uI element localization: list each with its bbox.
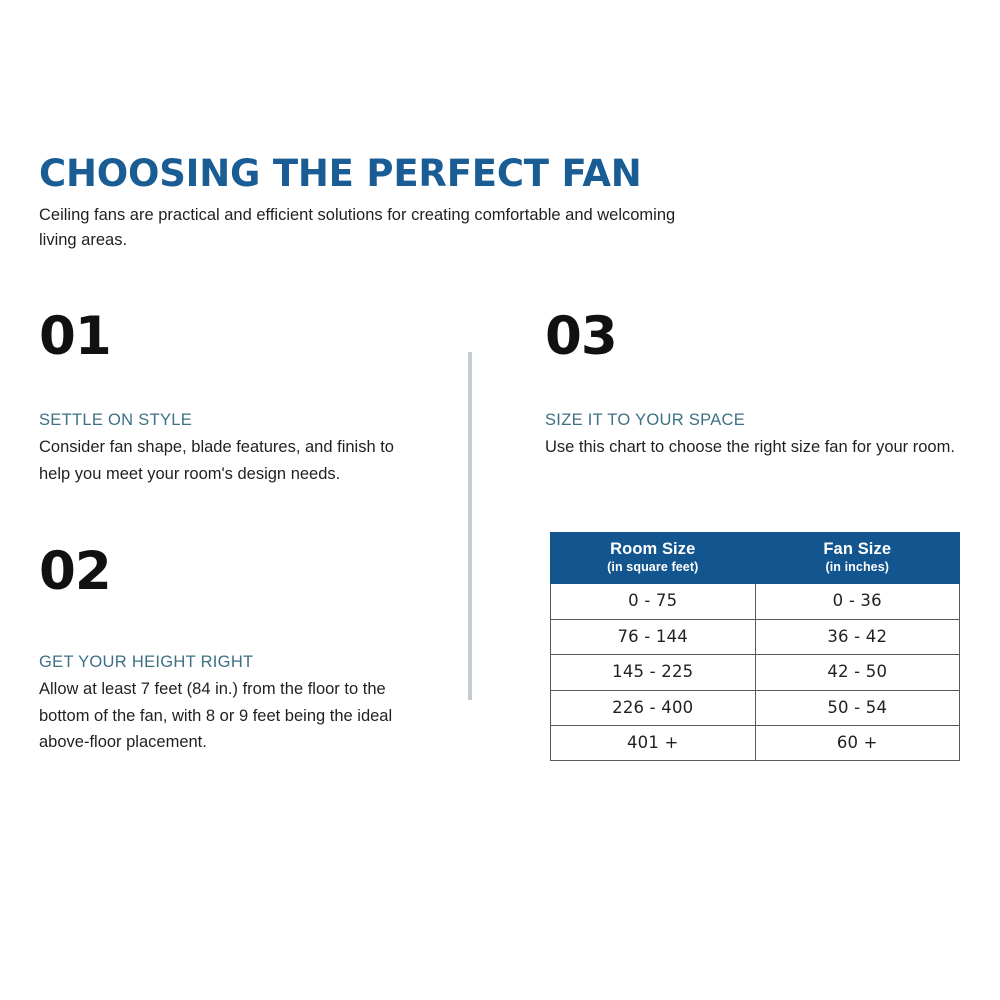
step-number-03: 03 — [545, 310, 965, 363]
cell-fan-size: 60 + — [755, 725, 960, 760]
step-subhead-02: GET YOUR HEIGHT RIGHT — [39, 653, 419, 673]
column-header-fan-size-unit: (in inches) — [760, 559, 956, 575]
header: CHOOSING THE PERFECT FAN Ceiling fans ar… — [39, 155, 719, 254]
size-chart-head: Room Size (in square feet) Fan Size (in … — [551, 533, 960, 584]
cell-fan-size: 50 - 54 — [755, 690, 960, 725]
step-block-03: 03 SIZE IT TO YOUR SPACE Use this chart … — [545, 310, 965, 461]
table-row: 145 - 225 42 - 50 — [551, 655, 960, 690]
page-title: CHOOSING THE PERFECT FAN — [39, 155, 719, 194]
cell-room-size: 76 - 144 — [551, 619, 756, 654]
step-block-01: 01 SETTLE ON STYLE Consider fan shape, b… — [39, 310, 419, 487]
table-row: 0 - 75 0 - 36 — [551, 584, 960, 619]
step-body-02: Allow at least 7 feet (84 in.) from the … — [39, 676, 419, 756]
size-chart-body: 0 - 75 0 - 36 76 - 144 36 - 42 145 - 225… — [551, 584, 960, 761]
step-number-02: 02 — [39, 545, 419, 598]
step-body-03: Use this chart to choose the right size … — [545, 434, 965, 461]
column-header-room-size-label: Room Size — [555, 540, 751, 559]
cell-fan-size: 36 - 42 — [755, 619, 960, 654]
cell-room-size: 401 + — [551, 725, 756, 760]
column-header-room-size: Room Size (in square feet) — [551, 533, 756, 584]
table-row: 401 + 60 + — [551, 725, 960, 760]
infographic-page: CHOOSING THE PERFECT FAN Ceiling fans ar… — [0, 0, 1000, 1000]
step-block-02: 02 GET YOUR HEIGHT RIGHT Allow at least … — [39, 545, 419, 756]
column-header-fan-size-label: Fan Size — [760, 540, 956, 559]
cell-room-size: 145 - 225 — [551, 655, 756, 690]
cell-fan-size: 0 - 36 — [755, 584, 960, 619]
cell-fan-size: 42 - 50 — [755, 655, 960, 690]
cell-room-size: 0 - 75 — [551, 584, 756, 619]
step-number-01: 01 — [39, 310, 419, 363]
step-body-01: Consider fan shape, blade features, and … — [39, 434, 419, 487]
table-row: 226 - 400 50 - 54 — [551, 690, 960, 725]
cell-room-size: 226 - 400 — [551, 690, 756, 725]
right-column: 03 SIZE IT TO YOUR SPACE Use this chart … — [545, 310, 965, 461]
column-header-fan-size: Fan Size (in inches) — [755, 533, 960, 584]
step-subhead-03: SIZE IT TO YOUR SPACE — [545, 411, 965, 431]
step-subhead-01: SETTLE ON STYLE — [39, 411, 419, 431]
size-chart-table: Room Size (in square feet) Fan Size (in … — [550, 532, 960, 761]
column-divider — [468, 352, 472, 700]
column-header-room-size-unit: (in square feet) — [555, 559, 751, 575]
size-chart-wrapper: Room Size (in square feet) Fan Size (in … — [550, 532, 960, 761]
table-header-row: Room Size (in square feet) Fan Size (in … — [551, 533, 960, 584]
intro-paragraph: Ceiling fans are practical and efficient… — [39, 203, 679, 254]
table-row: 76 - 144 36 - 42 — [551, 619, 960, 654]
left-column: 01 SETTLE ON STYLE Consider fan shape, b… — [39, 310, 419, 756]
